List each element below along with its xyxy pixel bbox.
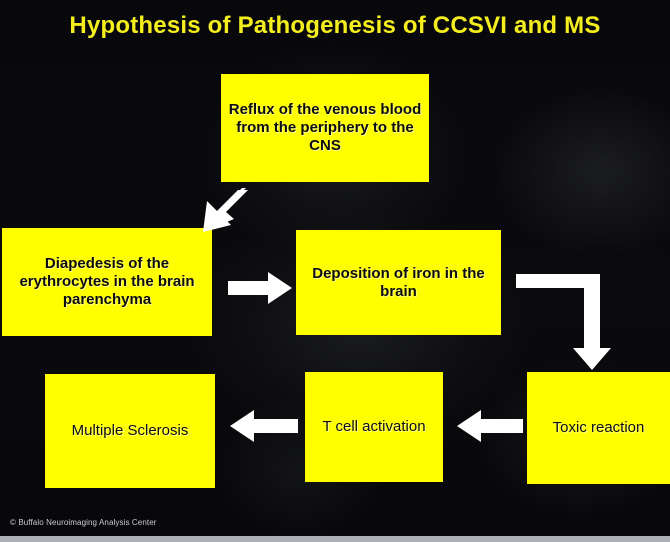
arrow-right-icon [228, 270, 294, 306]
slide-canvas: Hypothesis of Pathogenesis of CCSVI and … [0, 0, 670, 542]
flow-box-deposition[interactable]: Deposition of iron in the brain [296, 230, 501, 335]
flow-box-deposition-label: Deposition of iron in the brain [296, 265, 501, 300]
flow-box-multiple-sclerosis[interactable]: Multiple Sclerosis [45, 374, 215, 488]
flow-box-t-cell-activation-label: T cell activation [305, 418, 443, 436]
arrow-left-icon-tcell-to-ms [228, 408, 298, 444]
slide-bottom-bar [0, 536, 670, 542]
flow-box-reflux-label: Reflux of the venous blood from the peri… [221, 101, 429, 154]
flow-box-toxic-reaction[interactable]: Toxic reaction [527, 372, 670, 484]
flow-box-diapedesis-label: Diapedesis of the erythrocytes in the br… [2, 255, 212, 308]
flow-box-diapedesis[interactable]: Diapedesis of the erythrocytes in the br… [2, 228, 212, 336]
flow-box-toxic-reaction-label: Toxic reaction [527, 419, 670, 437]
page-title: Hypothesis of Pathogenesis of CCSVI and … [0, 12, 670, 40]
flow-box-t-cell-activation[interactable]: T cell activation [305, 372, 443, 482]
arrow-left-icon-toxic-to-tcell [455, 408, 523, 444]
flow-box-multiple-sclerosis-label: Multiple Sclerosis [45, 422, 215, 440]
copyright-credit: © Buffalo Neuroimaging Analysis Center [10, 518, 157, 527]
flow-box-reflux[interactable]: Reflux of the venous blood from the peri… [221, 74, 429, 182]
arrow-elbow-right-down-icon [516, 274, 616, 372]
